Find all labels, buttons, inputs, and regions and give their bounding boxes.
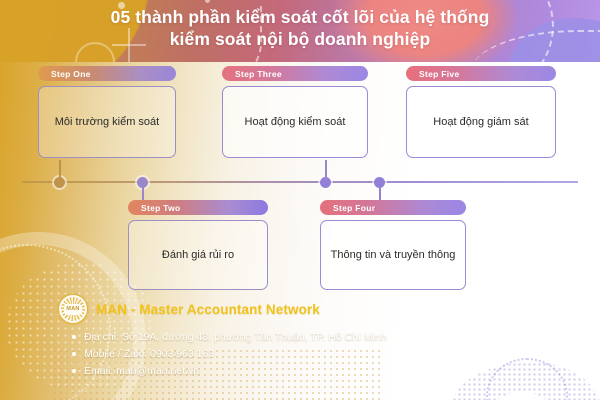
timeline-axis bbox=[22, 181, 578, 183]
brand-row: MAN MAN - Master Accountant Network bbox=[58, 294, 478, 324]
step-four-card: Thông tin và truyền thông bbox=[320, 220, 466, 290]
step-three-card: Hoạt động kiểm soát bbox=[222, 86, 368, 158]
page-title: 05 thành phần kiểm soát cốt lõi của hệ t… bbox=[0, 6, 600, 50]
step-one[interactable]: Step One Môi trường kiểm soát bbox=[38, 66, 176, 158]
contact-address: Địa chỉ: Số 19A, đường 43, phường Tân Th… bbox=[72, 330, 478, 344]
dot-decoration bbox=[205, 0, 210, 3]
contact-list: Địa chỉ: Số 19A, đường 43, phường Tân Th… bbox=[72, 330, 478, 378]
page-title-line-1: 05 thành phần kiểm soát cốt lõi của hệ t… bbox=[0, 6, 600, 28]
page-title-line-2: kiểm soát nội bộ doanh nghiệp bbox=[0, 28, 600, 50]
step-two-card: Đánh giá rủi ro bbox=[128, 220, 268, 290]
timeline-stem-up-1 bbox=[59, 160, 61, 182]
step-one-pill: Step One bbox=[38, 66, 176, 81]
step-three-pill: Step Three bbox=[222, 66, 368, 81]
brand-name: MAN - Master Accountant Network bbox=[96, 302, 320, 317]
step-four-pill: Step Four bbox=[320, 200, 466, 215]
man-logo-icon: MAN bbox=[58, 294, 88, 324]
step-two-pill: Step Two bbox=[128, 200, 268, 215]
infographic-poster: 05 thành phần kiểm soát cốt lõi của hệ t… bbox=[0, 0, 600, 400]
step-one-card: Môi trường kiểm soát bbox=[38, 86, 176, 158]
logo-text: MAN bbox=[64, 304, 82, 315]
footer-contact-block: MAN MAN - Master Accountant Network Địa … bbox=[58, 294, 478, 381]
step-four[interactable]: Step Four Thông tin và truyền thông bbox=[320, 200, 466, 290]
step-two[interactable]: Step Two Đánh giá rủi ro bbox=[128, 200, 268, 290]
timeline-stem-up-3 bbox=[325, 160, 327, 182]
contact-phone: Mobile / Zalo: 0903 963 163 bbox=[72, 347, 478, 361]
header-band: 05 thành phần kiểm soát cốt lõi của hệ t… bbox=[0, 0, 600, 62]
step-three[interactable]: Step Three Hoạt động kiểm soát bbox=[222, 66, 368, 158]
step-five-pill: Step Five bbox=[406, 66, 556, 81]
step-five-card: Hoạt động giám sát bbox=[406, 86, 556, 158]
step-five[interactable]: Step Five Hoạt động giám sát bbox=[406, 66, 556, 158]
contact-email: Email: man@man.net.vn bbox=[72, 364, 478, 378]
